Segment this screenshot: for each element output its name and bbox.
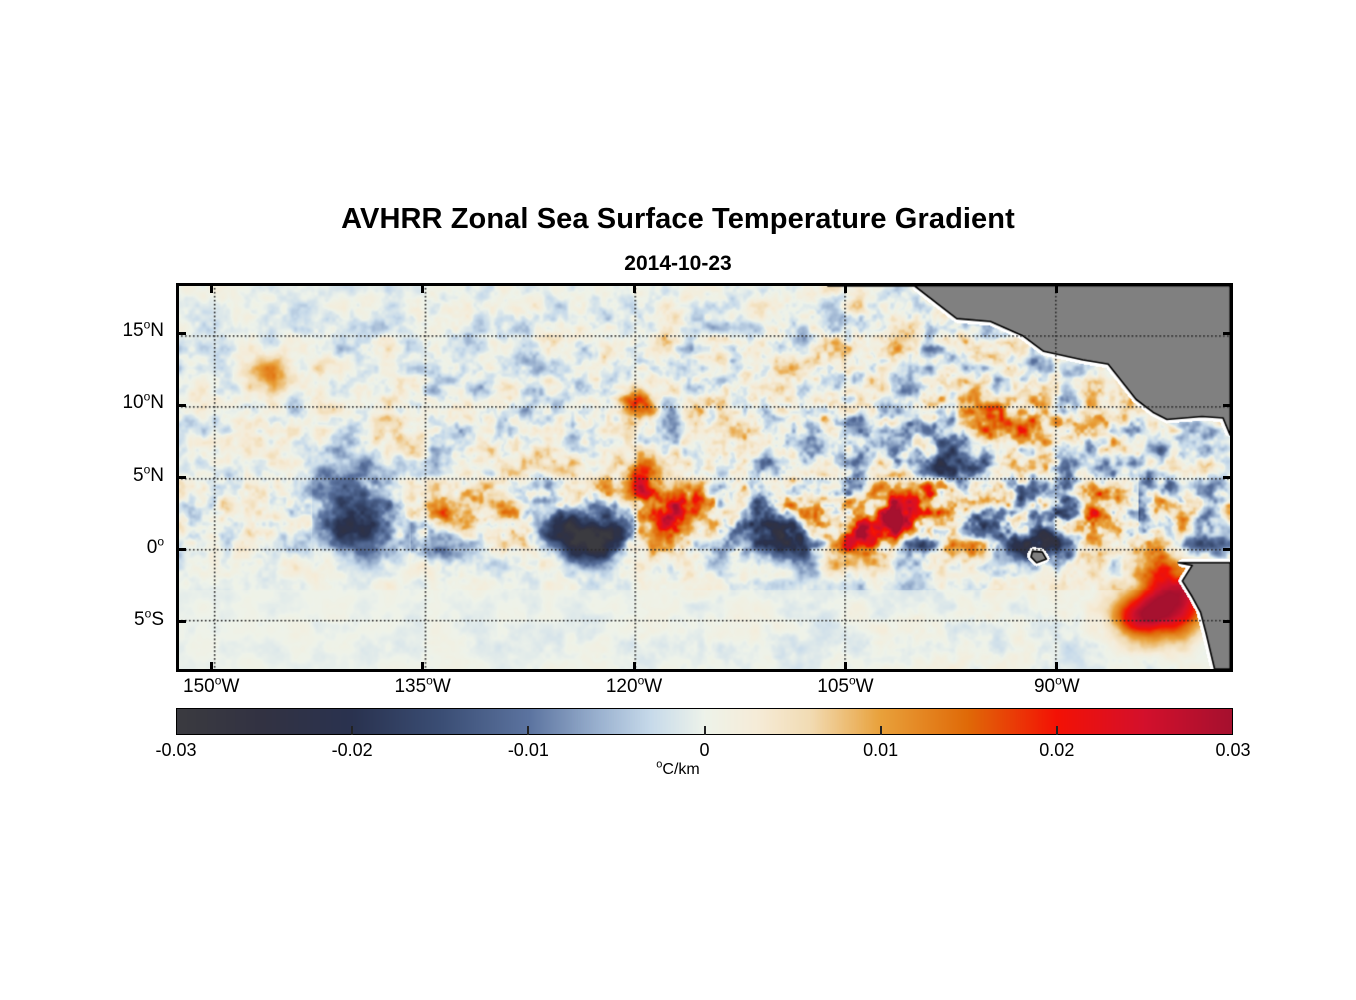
colorbar-tick-mark (880, 726, 882, 735)
y-tick-label: 0o (44, 537, 164, 559)
colorbar-tick-label: -0.01 (468, 740, 588, 761)
y-tick-label: 15oN (44, 320, 164, 342)
colorbar-tick-label: -0.02 (292, 740, 412, 761)
x-tick-mark (421, 283, 424, 293)
x-tick-mark (210, 662, 213, 672)
y-tick-mark (176, 620, 186, 623)
x-tick-mark (1055, 662, 1058, 672)
x-tick-mark (1055, 283, 1058, 293)
y-tick-mark (176, 476, 186, 479)
x-tick-label: 150oW (141, 676, 281, 698)
y-tick-mark (176, 404, 186, 407)
colorbar-tick-mark (1056, 726, 1058, 735)
y-tick-mark (1223, 404, 1233, 407)
colorbar-tick-mark (351, 726, 353, 735)
x-tick-label: 120oW (564, 676, 704, 698)
x-tick-mark (210, 283, 213, 293)
y-tick-mark (1223, 332, 1233, 335)
x-tick-mark (633, 662, 636, 672)
colorbar-unit-label: oC/km (0, 761, 1356, 779)
y-tick-mark (176, 332, 186, 335)
x-tick-label: 105oW (775, 676, 915, 698)
colorbar-unit-text: oC/km (656, 761, 699, 778)
x-tick-mark (633, 283, 636, 293)
colorbar-tick-mark (527, 726, 529, 735)
x-tick-label: 90oW (987, 676, 1127, 698)
figure-subtitle: 2014-10-23 (0, 252, 1356, 276)
x-tick-mark (421, 662, 424, 672)
y-tick-mark (1223, 476, 1233, 479)
y-tick-mark (1223, 548, 1233, 551)
colorbar-tick-label: 0.03 (1173, 740, 1293, 761)
map-axes[interactable] (176, 283, 1233, 672)
figure-root: AVHRR Zonal Sea Surface Temperature Grad… (0, 0, 1356, 1000)
colorbar-tick-label: -0.03 (116, 740, 236, 761)
y-tick-label: 5oS (44, 609, 164, 631)
colorbar-tick-label: 0.02 (997, 740, 1117, 761)
colorbar-tick-mark (704, 726, 706, 735)
y-tick-label: 10oN (44, 392, 164, 414)
y-tick-label: 5oN (44, 465, 164, 487)
y-tick-mark (176, 548, 186, 551)
sst-gradient-heatmap (179, 286, 1230, 669)
colorbar-tick-label: 0 (645, 740, 765, 761)
figure-title: AVHRR Zonal Sea Surface Temperature Grad… (0, 203, 1356, 236)
colorbar-tick-label: 0.01 (821, 740, 941, 761)
x-tick-label: 135oW (353, 676, 493, 698)
y-tick-mark (1223, 620, 1233, 623)
x-tick-mark (844, 662, 847, 672)
x-tick-mark (844, 283, 847, 293)
